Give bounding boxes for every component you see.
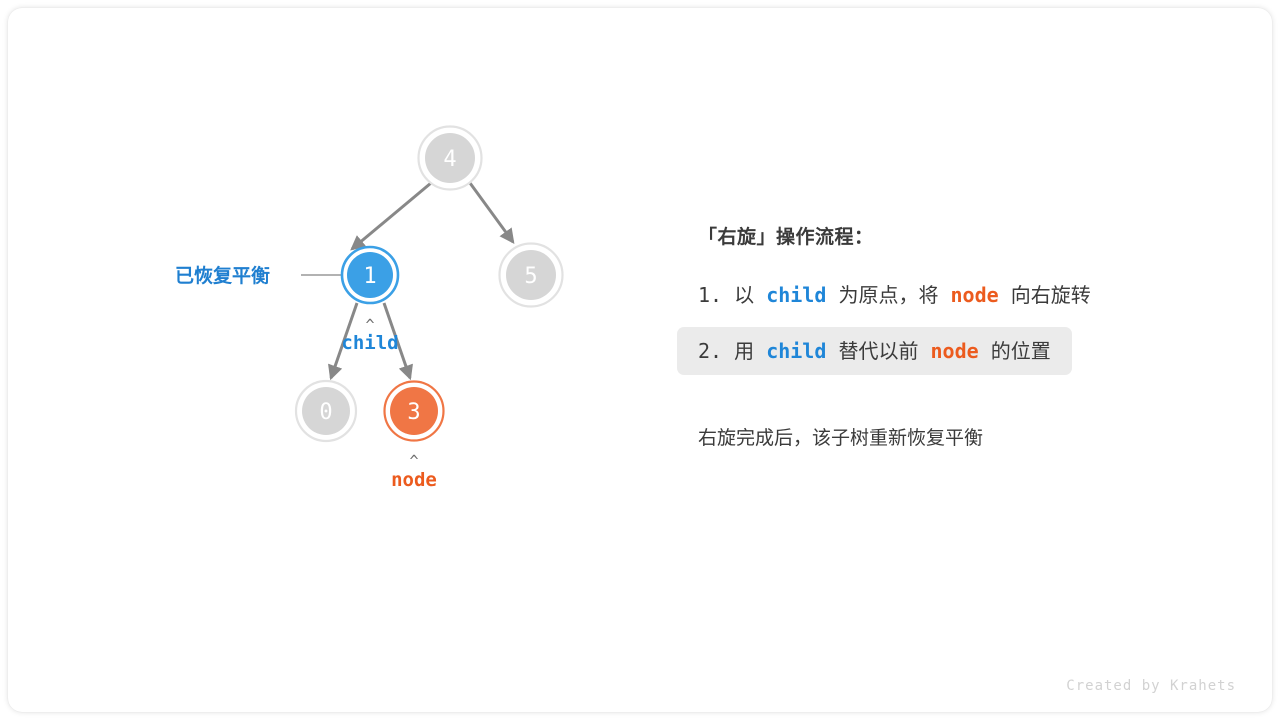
step-2-text-b: 替代以前 <box>838 339 918 363</box>
node-4-value: 4 <box>443 147 456 172</box>
step-1-keyword-node: node <box>951 283 999 307</box>
tree-node-3[interactable]: 3 <box>385 382 444 441</box>
panel-summary: 右旋完成后，该子树重新恢复平衡 <box>698 423 1218 450</box>
edge-4-to-1 <box>352 183 431 249</box>
step-1-text-c: 向右旋转 <box>1011 283 1091 307</box>
step-1-text-a: 以 <box>734 283 754 307</box>
step-1-text-b: 为原点，将 <box>838 283 938 307</box>
step-2-text-c: 的位置 <box>991 339 1051 363</box>
node-1-value: 1 <box>363 264 376 289</box>
tree-node-0[interactable]: 0 <box>296 381 356 441</box>
step-2-text-a: 用 <box>734 339 754 363</box>
step-2-keyword-node: node <box>931 339 979 363</box>
node-3-value: 3 <box>407 400 420 425</box>
screenshot-canvas: 已恢复平衡 4 5 0 1 3 <box>0 0 1280 720</box>
explanation-panel: 「右旋」操作流程： 1. 以 child 为原点，将 node 向右旋转 2. … <box>698 222 1218 450</box>
panel-title: 「右旋」操作流程： <box>698 222 1218 249</box>
step-2-keyword-child: child <box>766 339 826 363</box>
step-1-number: 1. <box>698 283 722 307</box>
edge-4-to-5 <box>470 183 513 242</box>
pointer-label-node: ^ node <box>391 452 437 491</box>
child-label-text: child <box>341 332 398 354</box>
step-item-1: 1. 以 child 为原点，将 node 向右旋转 <box>698 285 1218 305</box>
node-5-value: 5 <box>524 264 537 289</box>
step-item-2[interactable]: 2. 用 child 替代以前 node 的位置 <box>677 327 1072 375</box>
node-caret-icon: ^ <box>409 452 418 470</box>
tree-node-4[interactable]: 4 <box>419 127 482 190</box>
step-2-number: 2. <box>698 339 722 363</box>
tree-node-5[interactable]: 5 <box>500 244 563 307</box>
tree-node-1[interactable]: 1 <box>342 247 398 303</box>
step-1-keyword-child: child <box>766 283 826 307</box>
watermark-credit: Created by Krahets <box>1066 678 1236 694</box>
node-0-value: 0 <box>319 400 332 425</box>
node-label-text: node <box>391 469 437 491</box>
balanced-annotation-label: 已恢复平衡 <box>175 264 270 287</box>
